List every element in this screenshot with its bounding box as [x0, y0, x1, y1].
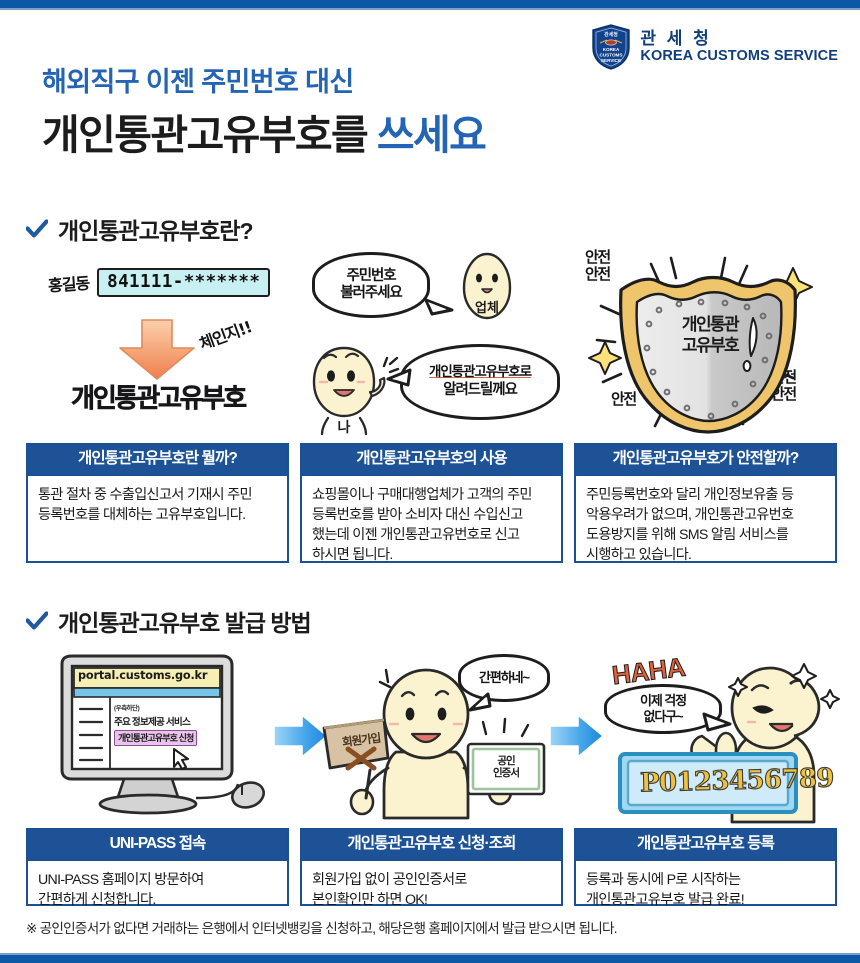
info-card-1-title: 개인통관고유부호란 뭘까? — [28, 445, 287, 474]
info-card-3: 개인통관고유부호가 안전할까? 주민등록번호와 달리 개인정보유출 등 악용우려… — [574, 443, 837, 563]
headline-title-part2: 쓰세요 — [377, 112, 485, 158]
step-card-2-title: 개인통관고유부호 신청·조회 — [302, 830, 561, 859]
shield-text-line1: 개인통관 — [645, 314, 775, 335]
change-label: 체인지!! — [196, 314, 255, 355]
issued-number-illustration: HAHA 이제 걱정 없다구~ P0123456789 — [598, 650, 848, 826]
top-accent-band — [0, 0, 860, 10]
info-card-2-body: 쇼핑몰이나 구매대행업체가 고객의 주민 등록번호를 받아 소비자 대신 수입신… — [302, 474, 561, 574]
footnote-text: ※ 공인인증서가 없다면 거래하는 은행에서 인터넷뱅킹을 신청하고, 해당은행… — [26, 917, 617, 937]
section-2-heading: 개인통관고유부호 발급 방법 — [26, 604, 311, 638]
headline-subtitle: 해외직구 이젠 주민번호 대신 — [42, 60, 354, 99]
x-mark-icon — [344, 746, 378, 772]
step3-speech-line1: 이제 걱정 — [640, 693, 686, 709]
logo-english-name: KOREA CUSTOMS SERVICE — [640, 48, 838, 64]
step-card-3: 개인통관고유부호 등록 등록과 동시에 P로 시작하는 개인통관고유부호 발급 … — [574, 828, 837, 906]
svg-text:CUSTOMS: CUSTOMS — [600, 53, 623, 58]
signup-illustration: 회원가입 공인 인증서 간편하네~ — [318, 652, 554, 822]
customs-logo-block: 관세청 KOREA CUSTOMS SERVICE 관 세 청 KOREA CU… — [591, 24, 838, 70]
svg-text:KOREA: KOREA — [603, 47, 620, 52]
company-speech-bubble: 주민번호 불러주세요 — [312, 252, 430, 318]
shield-text-line2: 고유부호 — [645, 335, 775, 356]
logo-korean-name: 관 세 청 — [640, 29, 838, 48]
arrow-down-icon — [112, 318, 202, 382]
portal-url-text: portal.customs.go.kr — [78, 669, 207, 682]
svg-text:나: 나 — [338, 419, 351, 435]
customer-speech-bubble: 개인통관고유부호로 알려드릴께요 — [400, 344, 560, 420]
conversation-illustration: 주민번호 불러주세요 업체 나 — [300, 248, 565, 438]
shield-emblem-icon: 관세청 KOREA CUSTOMS SERVICE — [591, 24, 631, 70]
info-card-3-title: 개인통관고유부호가 안전할까? — [576, 445, 835, 474]
check-mark-icon — [26, 611, 48, 631]
rrn-value-box: 841111-******* — [97, 268, 270, 297]
monitor-illustration: portal.customs.go.kr (우측하단) 주요 정보제공 서비스 … — [52, 652, 277, 822]
portal-menu-highlight: 개인통관고유부호 신청 — [114, 730, 197, 746]
bottom-accent-band — [0, 953, 860, 963]
svg-text:업체: 업체 — [475, 300, 499, 315]
step-card-3-title: 개인통관고유부호 등록 — [576, 830, 835, 859]
step-card-2-body: 회원가입 없이 공인인증서로 본인확인만 하면 OK! — [302, 859, 561, 918]
rrn-name-label: 홍길동 — [47, 269, 90, 296]
step2-speech-text: 간편하네~ — [479, 670, 529, 686]
shield-text-block: 개인통관 고유부호 — [645, 314, 775, 357]
company-speech-text: 주민번호 불러주세요 — [340, 268, 401, 303]
step2-bubble-tail — [466, 692, 492, 716]
info-card-1: 개인통관고유부호란 뭘까? 통관 절차 중 수출입신고서 기재시 주민 등록번호… — [26, 443, 289, 563]
svg-text:SERVICE: SERVICE — [601, 58, 621, 63]
section-2-title: 개인통관고유부호 발급 방법 — [58, 604, 311, 638]
infographic-page: 관세청 KOREA CUSTOMS SERVICE 관 세 청 KOREA CU… — [0, 0, 860, 963]
portal-menu-title: 주요 정보제공 서비스 — [114, 714, 190, 728]
company-bubble-tail — [424, 296, 454, 318]
mouse-icon — [229, 779, 267, 812]
step-card-1: UNI-PASS 접속 UNI-PASS 홈페이지 방문하여 간편하게 신청합니… — [26, 828, 289, 906]
issued-pccc-number: P0123456789 — [640, 763, 835, 798]
shield-illustration: 안전 안전 안전 안전 안전 — [575, 244, 847, 440]
step-card-1-title: UNI-PASS 접속 — [28, 830, 287, 859]
info-card-1-body: 통관 절차 중 수출입신고서 기재시 주민 등록번호를 대체하는 고유부호입니다… — [28, 474, 287, 533]
pccc-result-word: 개인통관고유부호 — [48, 378, 268, 415]
step3-bubble-tail — [702, 710, 732, 736]
section-1-heading: 개인통관고유부호란? — [26, 212, 253, 246]
check-mark-icon — [26, 219, 48, 239]
customer-bubble-tail — [386, 366, 412, 390]
certificate-label: 공인 인증서 — [484, 755, 528, 779]
headline-title: 개인통관고유부호를 쓰세요 — [42, 101, 485, 161]
step-card-2: 개인통관고유부호 신청·조회 회원가입 없이 공인인증서로 본인확인만 하면 O… — [300, 828, 563, 906]
step-card-3-body: 등록과 동시에 P로 시작하는 개인통관고유부호 발급 완료! — [576, 859, 835, 918]
company-character: 업체 — [456, 248, 518, 326]
rrn-illustration: 홍길동 841111-******* — [48, 268, 270, 297]
customer-speech-line2: 알려드릴께요 — [443, 382, 516, 399]
customer-speech-line1: 개인통관고유부호로 — [429, 364, 531, 380]
step3-speech-line2: 없다구~ — [643, 709, 682, 725]
headline-title-part1: 개인통관고유부호를 — [42, 112, 377, 158]
step-card-1-body: UNI-PASS 홈페이지 방문하여 간편하게 신청합니다. — [28, 859, 287, 918]
info-card-3-body: 주민등록번호와 달리 개인정보유출 등 악용우려가 없으며, 개인통관고유번호 … — [576, 474, 835, 574]
info-card-2: 개인통관고유부호의 사용 쇼핑몰이나 구매대행업체가 고객의 주민 등록번호를 … — [300, 443, 563, 563]
portal-note-text: (우측하단) — [114, 703, 139, 712]
svg-text:관세청: 관세청 — [604, 31, 618, 38]
section-1-title: 개인통관고유부호란? — [58, 212, 253, 246]
info-card-2-title: 개인통관고유부호의 사용 — [302, 445, 561, 474]
